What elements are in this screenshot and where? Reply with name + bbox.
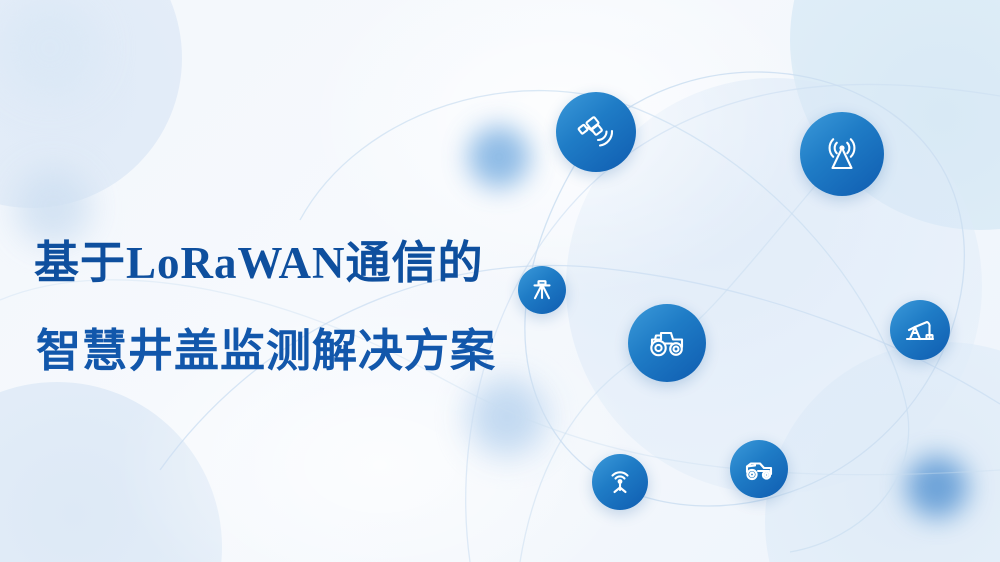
slide-canvas: 基于LoRaWAN通信的 智慧井盖监测解决方案 [0, 0, 1000, 562]
node-harvester[interactable] [730, 440, 788, 498]
title-line-secondary: 智慧井盖监测解决方案 [36, 320, 574, 382]
tractor-icon [645, 321, 689, 365]
node-satellite[interactable] [556, 92, 636, 172]
node-radio-tower[interactable] [800, 112, 884, 196]
radio-tower-icon [819, 131, 865, 177]
title-block: 基于LoRaWAN通信的 智慧井盖监测解决方案 [34, 232, 574, 382]
oil-pumpjack-icon [903, 313, 937, 347]
satellite-icon [574, 110, 618, 154]
title-line-primary: 基于LoRaWAN通信的 [34, 232, 574, 294]
signal-beacon-icon [604, 466, 636, 498]
node-oil-pumpjack[interactable] [890, 300, 950, 360]
node-signal-beacon[interactable] [592, 454, 648, 510]
harvester-icon [742, 452, 776, 486]
node-tractor[interactable] [628, 304, 706, 382]
